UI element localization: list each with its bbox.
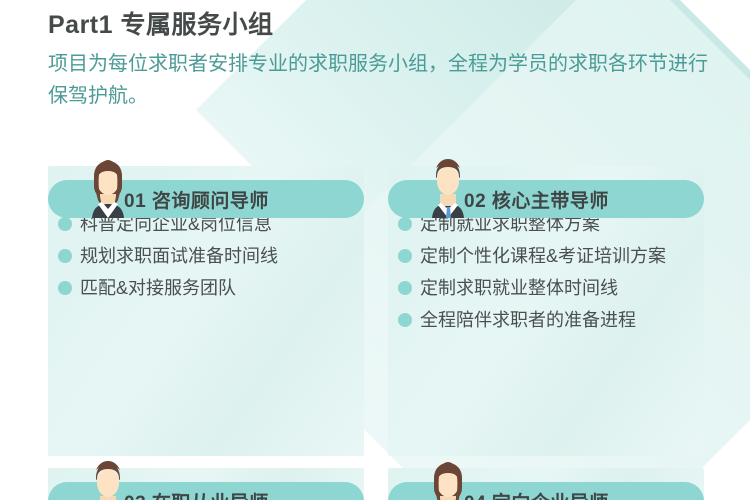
service-card-04[interactable]: 04 定向企业导师: [388, 468, 704, 500]
bullet-label: 定制求职就业整体时间线: [420, 274, 618, 302]
bullet-label: 定制个性化课程&考证培训方案: [420, 242, 666, 270]
service-card-03[interactable]: 03 在职从业导师: [48, 468, 364, 500]
bullet-dot-icon: [58, 281, 72, 295]
header: Part1 专属服务小组 项目为每位求职者安排专业的求职服务小组，全程为学员的求…: [48, 8, 720, 112]
card-title: 01 咨询顾问导师: [124, 186, 269, 213]
infographic-page: Part1 专属服务小组 项目为每位求职者安排专业的求职服务小组，全程为学员的求…: [0, 0, 750, 500]
bullet-label: 规划求职面试准备时间线: [80, 242, 278, 270]
list-item: 全程陪伴求职者的准备进程: [398, 306, 694, 334]
bullet-dot-icon: [398, 217, 412, 231]
card-header-pill: 03 在职从业导师: [48, 482, 364, 500]
card-title: 03 在职从业导师: [124, 488, 269, 500]
list-item: 匹配&对接服务团队: [58, 274, 354, 302]
bullet-dot-icon: [398, 249, 412, 263]
card-title: 04 定向企业导师: [464, 488, 609, 500]
card-header-pill: 01 咨询顾问导师: [48, 180, 364, 218]
card-bullet-list: 定制就业求职整体方案 定制个性化课程&考证培训方案 定制求职就业整体时间线 全程…: [398, 210, 694, 334]
card-title: 02 核心主带导师: [464, 186, 609, 213]
card-header-pill: 02 核心主带导师: [388, 180, 704, 218]
bullet-dot-icon: [398, 281, 412, 295]
service-card-01[interactable]: 科普定向企业&岗位信息 规划求职面试准备时间线 匹配&对接服务团队 01 咨询顾…: [48, 166, 364, 456]
page-title: Part1 专属服务小组: [48, 8, 720, 42]
bullet-dot-icon: [398, 313, 412, 327]
card-bullet-list: 科普定向企业&岗位信息 规划求职面试准备时间线 匹配&对接服务团队: [58, 210, 354, 302]
page-subtitle: 项目为每位求职者安排专业的求职服务小组，全程为学员的求职各环节进行保驾护航。: [48, 48, 708, 112]
list-item: 定制求职就业整体时间线: [398, 274, 694, 302]
list-item: 规划求职面试准备时间线: [58, 242, 354, 270]
bullet-label: 匹配&对接服务团队: [80, 274, 236, 302]
bullet-label: 全程陪伴求职者的准备进程: [420, 306, 636, 334]
card-header-pill: 04 定向企业导师: [388, 482, 704, 500]
list-item: 定制个性化课程&考证培训方案: [398, 242, 694, 270]
bullet-dot-icon: [58, 217, 72, 231]
card-grid: 科普定向企业&岗位信息 规划求职面试准备时间线 匹配&对接服务团队 01 咨询顾…: [48, 166, 720, 500]
service-card-02[interactable]: 定制就业求职整体方案 定制个性化课程&考证培训方案 定制求职就业整体时间线 全程…: [388, 166, 704, 456]
bullet-dot-icon: [58, 249, 72, 263]
